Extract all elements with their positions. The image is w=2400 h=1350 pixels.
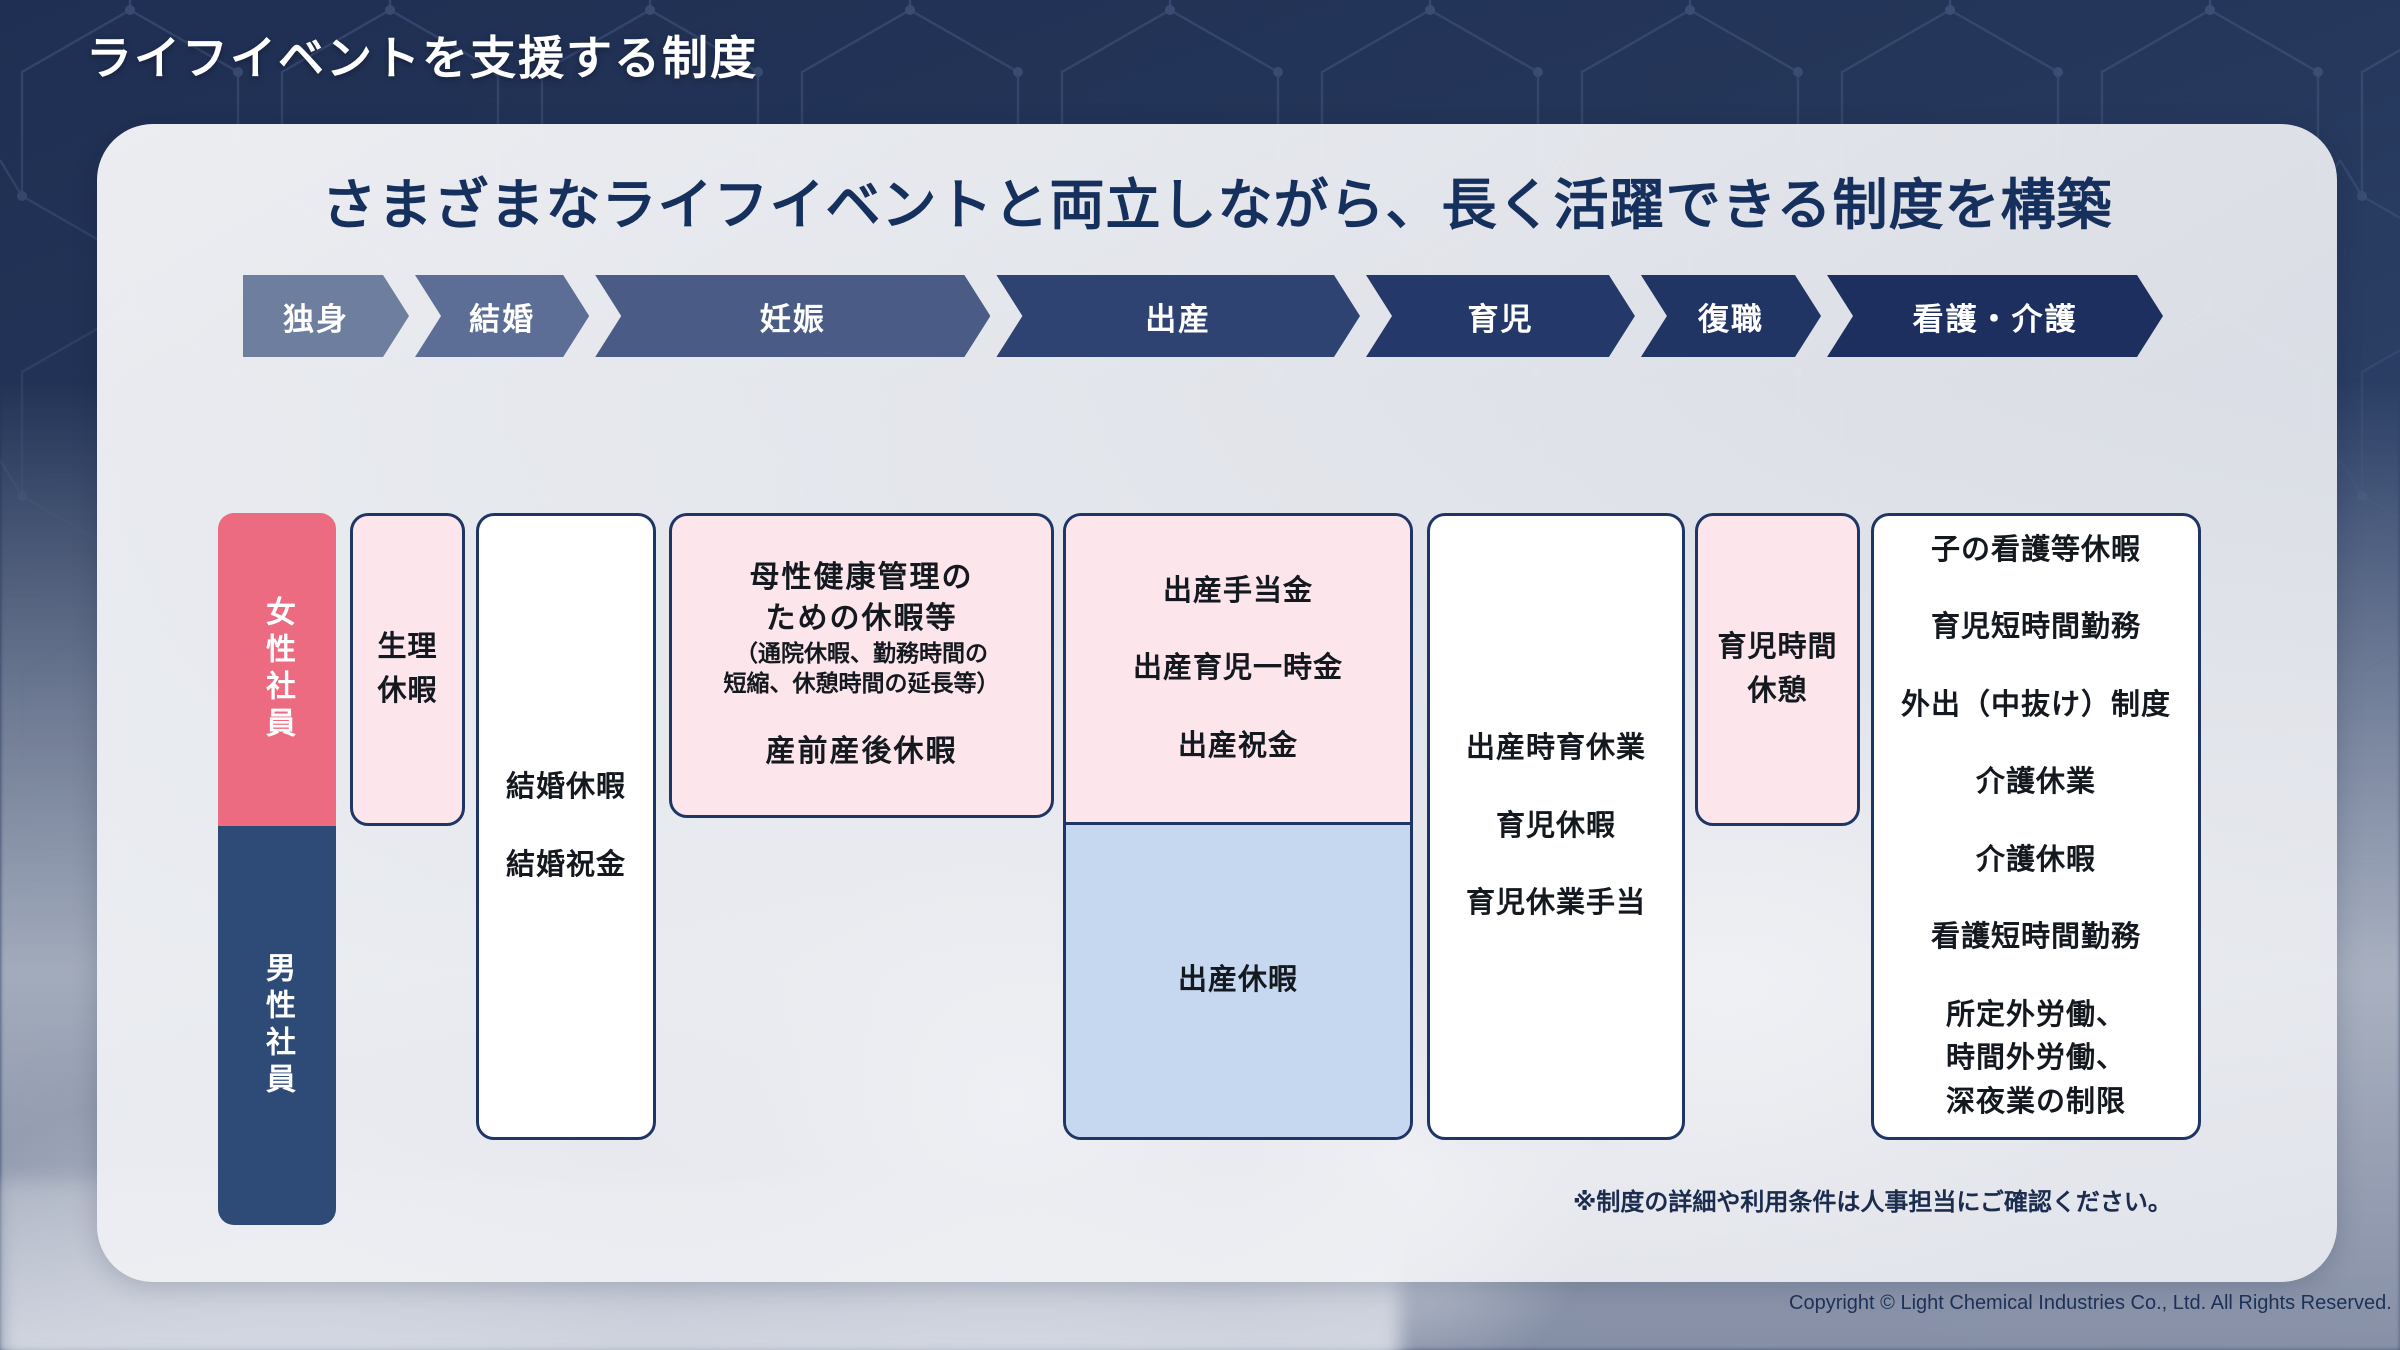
card-line: 出産祝金: [1178, 725, 1298, 769]
stage-chevron-label: 独身: [283, 294, 349, 339]
card-line: 深夜業の制限: [1946, 1081, 2126, 1125]
footnote-text: ※制度の詳細や利用条件は人事担当にご確認ください。: [1573, 1182, 2172, 1217]
employee-gender-legend: 女性社員男性社員: [218, 513, 336, 1225]
card-line: 結婚祝金: [506, 844, 626, 888]
card-line: 結婚休暇: [506, 766, 626, 810]
card-line: 介護休暇: [1976, 839, 2096, 883]
stage-chevron-6[interactable]: 看護・介護: [1827, 275, 2163, 357]
card-line: 介護休業: [1976, 761, 2096, 805]
stage-chevron-4[interactable]: 育児: [1366, 275, 1635, 357]
stage-chevron-2[interactable]: 妊娠: [595, 275, 990, 357]
card-line: 育児休暇: [1496, 805, 1616, 849]
card-line: ための休暇等: [766, 599, 958, 639]
card-line: 短縮、休憩時間の延長等）: [724, 669, 1000, 699]
gender-label-female: 女性社員: [218, 513, 336, 826]
panel-heading: さまざまなライフイベントと両立しながら、長く活躍できる制度を構築: [97, 160, 2337, 240]
card-marriage[interactable]: 結婚休暇結婚祝金: [476, 513, 656, 1140]
card-line: 看護短時間勤務: [1931, 916, 2141, 960]
card-line: 育児休業手当: [1466, 882, 1646, 926]
card-pregnancy[interactable]: 母性健康管理のための休暇等（通院休暇、勤務時間の短縮、休憩時間の延長等）産前産後…: [669, 513, 1054, 818]
card-birth-male-section: 出産休暇: [1066, 825, 1410, 1137]
copyright-text: Copyright © Light Chemical Industries Co…: [1789, 1292, 2392, 1315]
card-line: 生理: [377, 626, 437, 670]
card-birth-female-section: 出産手当金出産育児一時金出産祝金: [1066, 516, 1410, 822]
card-line: 時間外労働、: [1946, 1037, 2126, 1081]
card-line: 子の看護等休暇: [1931, 529, 2141, 573]
card-line: 出産育児一時金: [1133, 647, 1343, 691]
card-birth[interactable]: 出産手当金出産育児一時金出産祝金出産休暇: [1063, 513, 1413, 1140]
card-line: 出産手当金: [1163, 570, 1313, 614]
card-line: 産前産後休暇: [766, 732, 958, 772]
card-line: 外出（中抜け）制度: [1901, 684, 2171, 728]
page-title: ライフイベントを支援する制度: [86, 22, 758, 88]
card-line: 休暇: [377, 670, 437, 714]
stage-chevron-3[interactable]: 出産: [996, 275, 1360, 357]
card-line: 育児短時間勤務: [1931, 606, 2141, 650]
stage-chevron-5[interactable]: 復職: [1641, 275, 1821, 357]
card-line: 母性健康管理の: [750, 558, 974, 598]
stage-chevron-0[interactable]: 独身: [243, 275, 409, 357]
stage-chevron-label: 育児: [1467, 294, 1533, 339]
card-line: 育児時間: [1717, 626, 1837, 670]
stage-chevron-label: 出産: [1145, 294, 1211, 339]
stage-chevron-label: 妊娠: [760, 294, 826, 339]
card-childcare[interactable]: 出産時育休業育児休暇育児休業手当: [1427, 513, 1685, 1140]
slide-root: ライフイベントを支援する制度 さまざまなライフイベントと両立しながら、長く活躍で…: [0, 0, 2400, 1350]
card-line: 出産時育休業: [1466, 727, 1646, 771]
card-line: 休憩: [1747, 670, 1807, 714]
card-nursing-care[interactable]: 子の看護等休暇育児短時間勤務外出（中抜け）制度介護休業介護休暇看護短時間勤務所定…: [1871, 513, 2201, 1140]
card-return-to-work[interactable]: 育児時間休憩: [1695, 513, 1860, 826]
card-single[interactable]: 生理休暇: [350, 513, 465, 826]
card-line: （通院休暇、勤務時間の: [735, 639, 988, 669]
card-line: 出産休暇: [1178, 959, 1298, 1003]
stage-chevron-1[interactable]: 結婚: [415, 275, 589, 357]
lifecycle-stage-ribbon: 独身結婚妊娠出産育児復職看護・介護: [243, 275, 2163, 357]
card-line: 所定外労働、: [1946, 994, 2126, 1038]
stage-chevron-label: 看護・介護: [1913, 294, 2078, 339]
gender-label-male: 男性社員: [218, 826, 336, 1225]
stage-chevron-label: 復職: [1698, 294, 1764, 339]
stage-chevron-label: 結婚: [469, 294, 535, 339]
